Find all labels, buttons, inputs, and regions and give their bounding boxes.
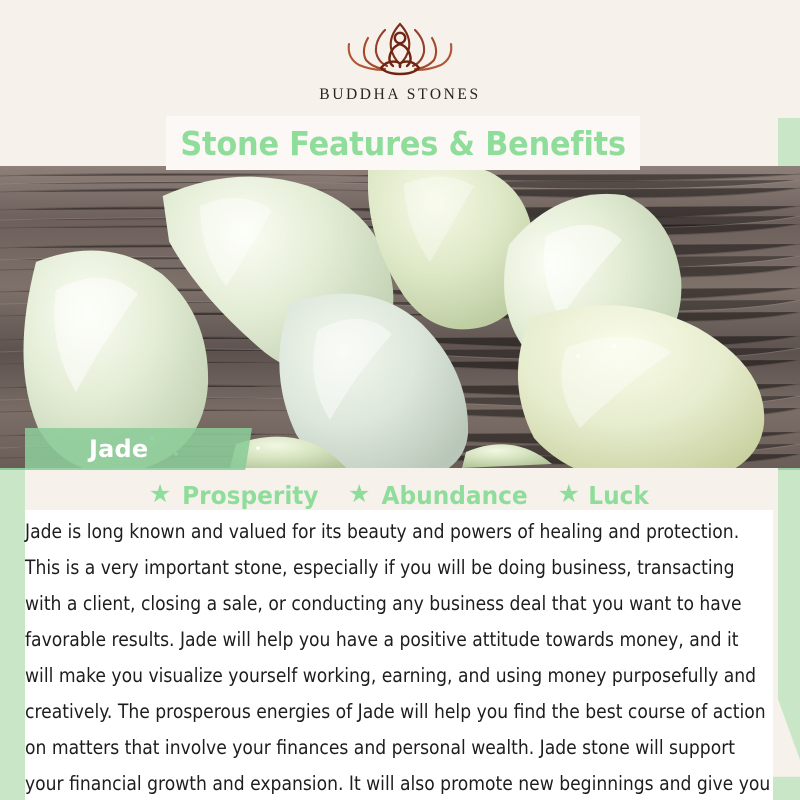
keyword-item-abundance: ★ Abundance xyxy=(348,481,534,510)
page-title: Stone Features & Benefits xyxy=(180,124,626,163)
keyword-item-luck: ★ Luck xyxy=(558,481,652,510)
lotus-meditation-icon xyxy=(335,18,465,80)
jade-stones-photo xyxy=(0,166,800,468)
description-block: Jade is long known and valued for its be… xyxy=(25,510,773,800)
keyword-label: Abundance xyxy=(382,481,528,510)
infographic-page: BUDDHA STONES Stone Features & Benefits … xyxy=(0,0,800,800)
brand-header: BUDDHA STONES xyxy=(0,0,800,118)
star-icon: ★ xyxy=(558,482,580,507)
star-icon: ★ xyxy=(348,482,370,507)
stone-name-banner: Jade xyxy=(25,428,252,470)
photo-artwork xyxy=(0,166,800,468)
keyword-list: ★ Prosperity ★ Abundance ★ Luck xyxy=(0,478,800,512)
keyword-item-prosperity: ★ Prosperity xyxy=(149,481,324,510)
section-title-banner: Stone Features & Benefits xyxy=(166,116,640,170)
description-text: Jade is long known and valued for its be… xyxy=(25,514,771,800)
keyword-label: Prosperity xyxy=(182,481,318,510)
star-icon: ★ xyxy=(149,482,171,507)
stone-name-label: Jade xyxy=(89,435,148,463)
keyword-label: Luck xyxy=(588,481,649,510)
brand-wordmark: BUDDHA STONES xyxy=(319,86,480,104)
